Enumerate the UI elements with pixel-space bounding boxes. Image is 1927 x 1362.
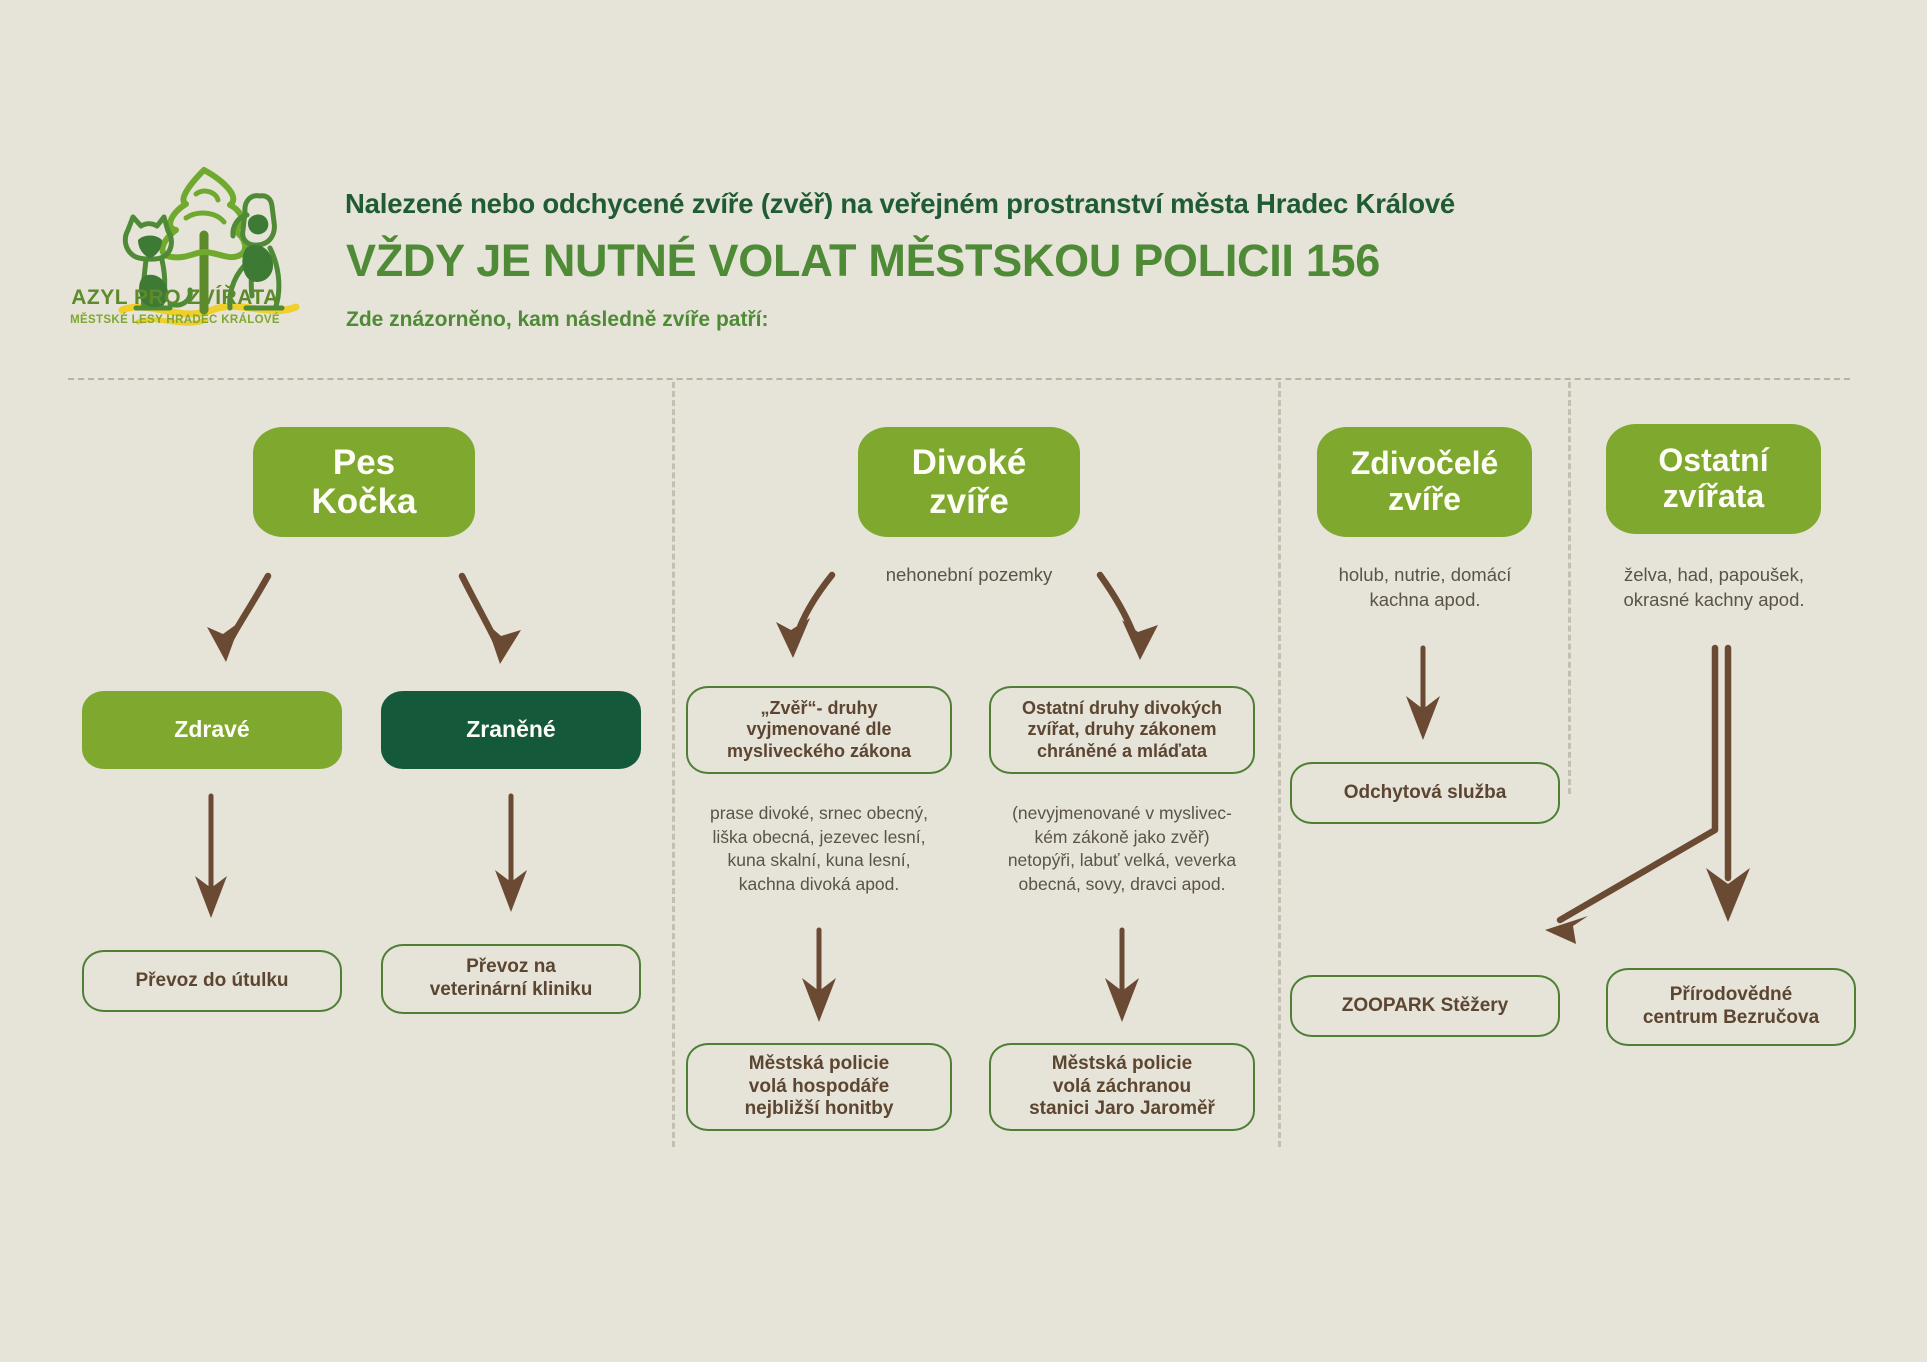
result-box-prevoz-do-utulku[interactable]: Převoz do útulku [82,950,342,1012]
column-divider-3 [1568,382,1571,794]
logo-subtitle: MĚSTSKÉ LESY HRADEC KRÁLOVÉ [55,314,295,326]
head-box-ostatni-zvirata[interactable]: Ostatní zvířata [1606,424,1821,534]
arrow-divoke-to-zver [776,575,832,658]
branch-box-zver-myslivecky-zakon[interactable]: „Zvěř“- druhy vyjmenované dle myslivecké… [686,686,952,774]
arrow-zdrave-to-utulek [195,796,227,918]
caption-nehonebni-pozemky: nehonební pozemky [829,563,1109,588]
arrow-zranene-to-klinika [495,796,527,912]
head-box-zdivocele-zvire[interactable]: Zdivočelé zvíře [1317,427,1532,537]
top-divider [68,378,1850,380]
result-box-mestska-policie-jaro-jaromer[interactable]: Městská policie volá záchranou stanici J… [989,1043,1255,1131]
column-divider-1 [672,382,675,1147]
result-box-prirodovedne-centrum-bezrucova[interactable]: Přírodovědné centrum Bezručova [1606,968,1856,1046]
caption-zdivocele-zvire: holub, nutrie, domácí kachna apod. [1299,563,1551,613]
infographic-canvas: AZYL PRO ZVÍŘATA MĚSTSKÉ LESY HRADEC KRÁ… [0,0,1927,1362]
branch-box-ostatni-divoka-zvirata[interactable]: Ostatní druhy divokých zvířat, druhy zák… [989,686,1255,774]
result-box-mestska-policie-hospodar[interactable]: Městská policie volá hospodáře nejbližší… [686,1043,952,1131]
result-box-prevoz-na-veterinarni-kliniku[interactable]: Převoz na veterinární kliniku [381,944,641,1014]
head-box-pes-kocka[interactable]: Pes Kočka [253,427,475,537]
result-box-odchytova-sluzba[interactable]: Odchytová služba [1290,762,1560,824]
header-line-1: Nalezené nebo odchycené zvíře (zvěř) na … [345,188,1455,220]
arrow-pes-to-zdrave [207,576,268,662]
arrow-zdivocele-to-odchytova [1406,648,1440,740]
logo-title: AZYL PRO ZVÍŘATA [60,286,290,310]
arrow-pes-to-zranene [462,576,521,664]
arrow-ostatni-to-prirodovedne [1706,648,1750,922]
result-box-zoopark-stezery[interactable]: ZOOPARK Stěžery [1290,975,1560,1037]
arrow-zver-to-hospodar [802,930,836,1022]
header-line-2: VŽDY JE NUTNÉ VOLAT MĚSTSKOU POLICII 156 [346,235,1380,287]
head-box-divoke-zvire[interactable]: Divoké zvíře [858,427,1080,537]
arrow-ostatni-divoka-to-jaro [1105,930,1139,1022]
branch-box-zranene[interactable]: Zraněné [381,691,641,769]
branch-box-zdrave[interactable]: Zdravé [82,691,342,769]
header-line-3: Zde znázorněno, kam následně zvíře patří… [346,308,768,332]
caption-ostatni-zvirata: želva, had, papoušek, okrasné kachny apo… [1588,563,1840,613]
column-divider-2 [1278,382,1281,1147]
detail-text-ostatni-divoka-zvirata: (nevyjmenované v myslivec- kém zákoně ja… [977,802,1267,897]
detail-text-zver-myslivecky-zakon: prase divoké, srnec obecný, liška obecná… [674,802,964,897]
